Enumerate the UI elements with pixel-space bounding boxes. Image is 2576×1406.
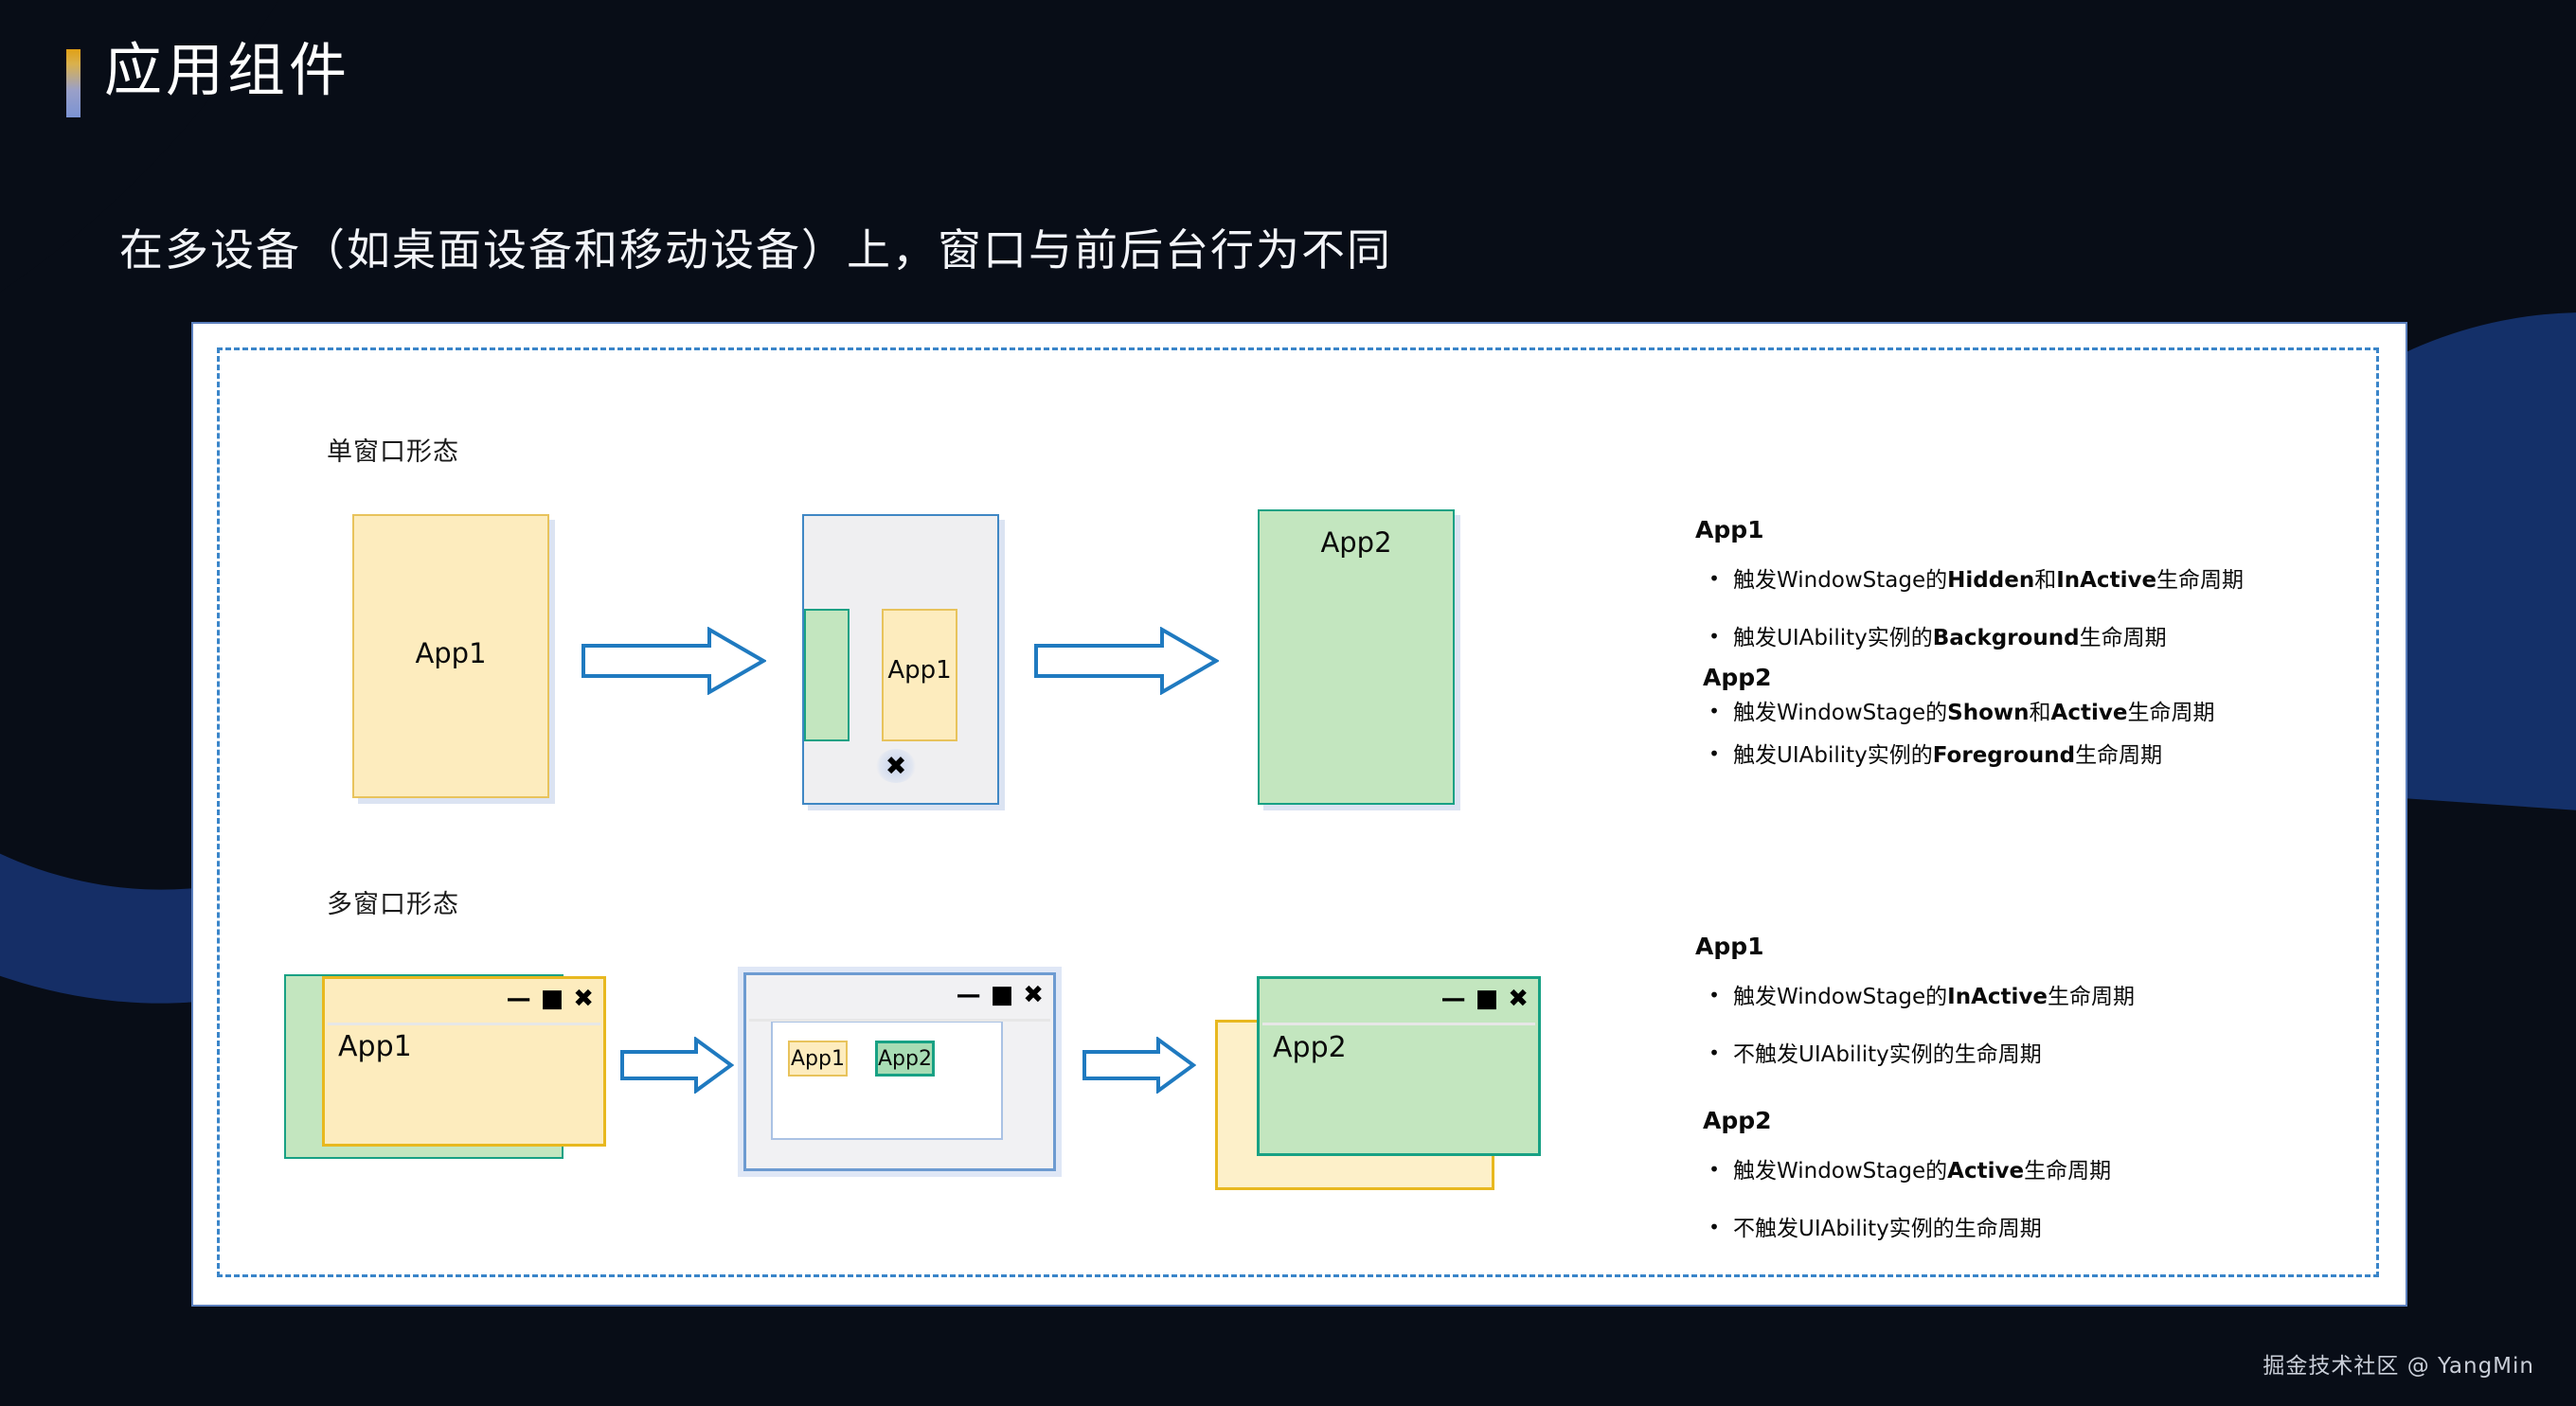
multi-stage3-window-controls: — ■ ✖	[1441, 987, 1529, 1011]
notes-bottom-app1-heading: App1	[1695, 933, 2358, 960]
bullet-text: 触发WindowStage的Shown和Active生命周期	[1733, 697, 2214, 730]
bullet-text: 不触发UIAbility实例的生命周期	[1733, 1039, 2042, 1072]
bullet-text: 触发WindowStage的InActive生命周期	[1733, 981, 2135, 1014]
bullet-text: 触发UIAbility实例的Background生命周期	[1733, 622, 2167, 655]
notes-top-app2-bullet-1: • 触发WindowStage的Shown和Active生命周期	[1695, 697, 2358, 730]
page-subtitle: 在多设备（如桌面设备和移动设备）上，窗口与前后台行为不同	[119, 216, 1392, 278]
notes-top-app1-bullet-1: • 触发WindowStage的Hidden和InActive生命周期	[1695, 564, 2358, 597]
section-label-multi-window: 多窗口形态	[327, 883, 459, 920]
bullet-text: 不触发UIAbility实例的生命周期	[1733, 1213, 2042, 1246]
titlebar-divider	[1262, 1023, 1535, 1025]
notes-top-app1-bullet-2: • 触发UIAbility实例的Background生命周期	[1695, 622, 2358, 655]
notes-bottom-app1-bullet-2: • 不触发UIAbility实例的生命周期	[1695, 1039, 2358, 1072]
multi-stage2-tile-app2[interactable]: App2	[875, 1041, 935, 1077]
close-x-icon[interactable]: ✖	[876, 749, 916, 783]
multi-stage2-desktop-window: — ■ ✖ App1 App2	[743, 972, 1056, 1171]
notes-bottom-app2-bullet-2: • 不触发UIAbility实例的生命周期	[1695, 1213, 2358, 1246]
close-icon[interactable]: ✖	[1508, 987, 1529, 1011]
multi-stage1-window-controls: — ■ ✖	[507, 987, 594, 1011]
bullet-icon: •	[1695, 981, 1733, 1009]
arrow-right-icon-3	[620, 1037, 734, 1094]
maximize-icon[interactable]: ■	[1476, 987, 1499, 1011]
multi-stage1-app1-window: — ■ ✖ App1	[322, 976, 606, 1147]
arrow-right-icon-1	[581, 627, 766, 695]
single-stage2-app1-window: App1	[882, 609, 957, 741]
close-icon[interactable]: ✖	[573, 987, 594, 1011]
title-accent-bar	[66, 49, 80, 117]
bullet-icon: •	[1695, 697, 1733, 725]
bullet-icon: •	[1695, 564, 1733, 593]
bullet-text: 触发WindowStage的Hidden和InActive生命周期	[1733, 564, 2244, 597]
single-stage3-app2-label: App2	[1260, 526, 1453, 559]
multi-stage2-window-controls: — ■ ✖	[957, 983, 1044, 1007]
multi-stage1-app1-label: App1	[338, 1030, 412, 1063]
multi-stage3-app2-label: App2	[1273, 1031, 1347, 1064]
notes-multi-window: App1 • 触发WindowStage的InActive生命周期 • 不触发U…	[1695, 933, 2358, 1255]
bullet-text: 触发WindowStage的Active生命周期	[1733, 1155, 2111, 1188]
slide-root: 应用组件 在多设备（如桌面设备和移动设备）上，窗口与前后台行为不同 单窗口形态 …	[0, 0, 2576, 1406]
notes-single-window: App1 • 触发WindowStage的Hidden和InActive生命周期…	[1695, 516, 2358, 781]
maximize-icon[interactable]: ■	[541, 987, 564, 1011]
minimize-icon[interactable]: —	[957, 983, 981, 1007]
single-stage2-group: App1 ✖	[802, 514, 999, 805]
multi-stage3-app2-window: — ■ ✖ App2	[1257, 976, 1541, 1156]
single-stage1-group: App1	[352, 514, 549, 798]
page-title: 应用组件	[104, 38, 350, 104]
bullet-icon: •	[1695, 739, 1733, 768]
bullet-icon: •	[1695, 1039, 1733, 1067]
bullet-icon: •	[1695, 622, 1733, 650]
minimize-icon[interactable]: —	[1441, 987, 1466, 1011]
footer-watermark: 掘金技术社区 @ YangMin	[2263, 1347, 2534, 1379]
single-stage2-app1-label: App1	[884, 656, 956, 685]
single-stage3-app2-window: App2	[1258, 509, 1455, 805]
multi-stage2-canvas: App1 App2	[771, 1021, 1003, 1140]
notes-top-app2-bullet-2: • 触发UIAbility实例的Foreground生命周期	[1695, 739, 2358, 773]
notes-bottom-app1-bullet-1: • 触发WindowStage的InActive生命周期	[1695, 981, 2358, 1014]
titlebar-divider	[749, 1019, 1050, 1022]
minimize-icon[interactable]: —	[507, 987, 531, 1011]
single-stage1-app1-window: App1	[352, 514, 549, 798]
notes-top-app2-heading: App2	[1703, 664, 2358, 691]
multi-stage2-tile-app1[interactable]: App1	[788, 1041, 848, 1077]
single-stage1-app1-label: App1	[354, 637, 547, 669]
titlebar-divider	[328, 1023, 600, 1025]
arrow-right-icon-4	[1082, 1037, 1196, 1094]
notes-bottom-app2-heading: App2	[1703, 1107, 2358, 1134]
close-icon[interactable]: ✖	[1023, 983, 1044, 1007]
notes-top-app1-heading: App1	[1695, 516, 2358, 543]
single-stage2-app2-strip	[804, 609, 850, 741]
bullet-icon: •	[1695, 1213, 1733, 1241]
arrow-right-icon-2	[1034, 627, 1219, 695]
maximize-icon[interactable]: ■	[991, 983, 1014, 1007]
bullet-text: 触发UIAbility实例的Foreground生命周期	[1733, 739, 2162, 773]
notes-bottom-app2-bullet-1: • 触发WindowStage的Active生命周期	[1695, 1155, 2358, 1188]
section-label-single-window: 单窗口形态	[327, 431, 459, 468]
single-stage3-group: App2	[1258, 509, 1455, 805]
bullet-icon: •	[1695, 1155, 1733, 1184]
